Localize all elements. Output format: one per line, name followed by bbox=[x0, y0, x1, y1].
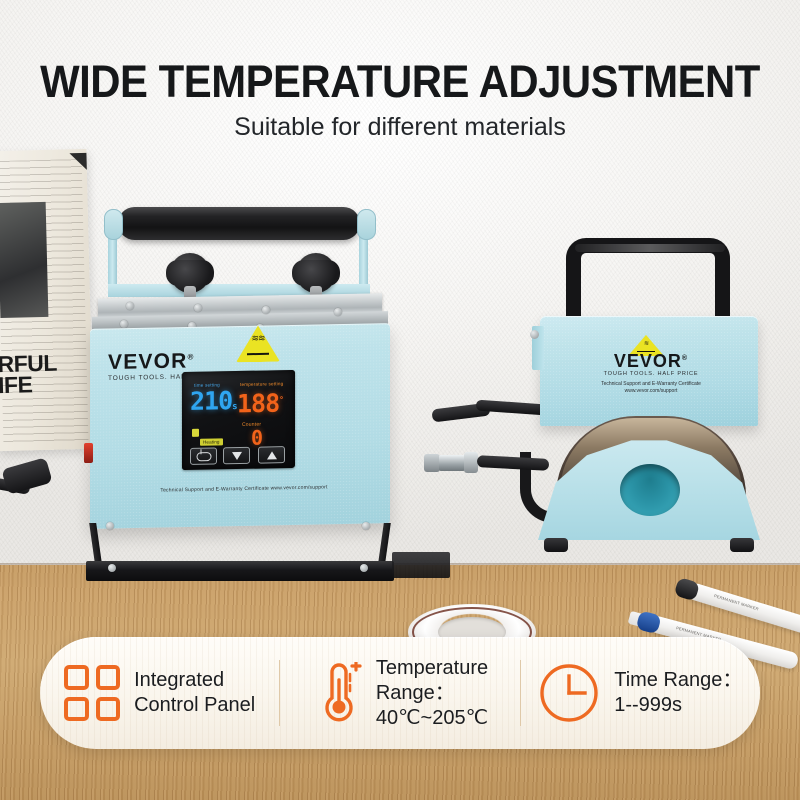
power-cord-left bbox=[0, 455, 110, 501]
connector-nut bbox=[464, 452, 478, 473]
feature-item-control-panel: Integrated Control Panel bbox=[40, 660, 279, 726]
pressure-knob-left[interactable] bbox=[170, 253, 210, 293]
grid-cell bbox=[96, 697, 121, 722]
feature-text: Time Range： 1--999s bbox=[614, 668, 742, 718]
mug-press-handle[interactable] bbox=[566, 238, 730, 328]
grid-cell bbox=[96, 665, 121, 690]
feature-line-1: Temperature bbox=[376, 656, 488, 681]
bolt bbox=[362, 522, 370, 530]
power-icon bbox=[196, 452, 211, 461]
decrease-button[interactable] bbox=[223, 447, 250, 465]
handle-cap-right bbox=[357, 209, 376, 240]
mug-cavity-hole bbox=[620, 464, 680, 516]
bolt bbox=[120, 320, 128, 328]
warning-underline bbox=[247, 353, 268, 355]
handle-cap-left bbox=[104, 209, 123, 240]
chevron-up-icon bbox=[267, 451, 277, 459]
feature-line-3: 40℃~205℃ bbox=[376, 706, 488, 731]
control-panel-display[interactable]: time setting temperature setting 210s 18… bbox=[182, 370, 295, 470]
feature-line-2: Control Panel bbox=[134, 693, 255, 718]
connector-barrel bbox=[439, 455, 465, 471]
grid-cell bbox=[64, 665, 89, 690]
brand-name: VEVOR® bbox=[576, 350, 726, 370]
temperature-setting-label: temperature setting bbox=[240, 381, 283, 387]
page-subtitle: Suitable for different materials bbox=[0, 113, 800, 142]
book-photo bbox=[0, 202, 48, 318]
product-marketing-image: WIDE TEMPERATURE ADJUSTMENT Suitable for… bbox=[0, 0, 800, 800]
power-button[interactable] bbox=[190, 447, 217, 465]
book-headline-line2: IFE bbox=[0, 373, 90, 396]
plug-indicator-icon bbox=[192, 429, 199, 437]
thermometer-plus-icon bbox=[312, 662, 362, 724]
warning-waves: ≋ bbox=[644, 341, 648, 347]
feature-bar: Integrated Control Panel Temperature bbox=[40, 637, 760, 749]
connector-ring bbox=[424, 454, 440, 472]
feature-text: Temperature Range： 40℃~205℃ bbox=[376, 656, 488, 731]
brand-logo-right: VEVOR® TOUGH TOOLS. HALF PRICE Technical… bbox=[576, 350, 726, 395]
book-corner-mark bbox=[69, 153, 86, 170]
feature-line-1: Integrated bbox=[134, 668, 255, 693]
tumbler-heat-press: VEVOR® TOUGH TOOLS. HALF PRICE ≋≋ time s… bbox=[78, 196, 438, 586]
chevron-down-icon bbox=[232, 451, 242, 459]
increase-button[interactable] bbox=[258, 446, 285, 464]
time-value: 210s bbox=[190, 388, 237, 421]
grid-panel-icon bbox=[64, 665, 120, 721]
feature-item-time: Time Range： 1--999s bbox=[521, 660, 760, 726]
support-url: www.vevor.com/support bbox=[576, 388, 726, 395]
side-knob[interactable] bbox=[530, 330, 539, 339]
brand-tagline: TOUGH TOOLS. HALF PRICE bbox=[576, 371, 726, 377]
feature-line-2: 1--999s bbox=[614, 693, 742, 718]
feature-line-1: Time Range： bbox=[614, 668, 742, 693]
support-line: Technical Support and E-Warranty Certifi… bbox=[576, 381, 726, 388]
feature-text: Integrated Control Panel bbox=[134, 668, 255, 718]
feature-item-temperature: Temperature Range： 40℃~205℃ bbox=[280, 660, 519, 726]
cord-plug bbox=[1, 457, 52, 495]
counter-value: 0 bbox=[251, 428, 263, 448]
base-foot-left bbox=[544, 538, 568, 552]
press-handle-bar[interactable] bbox=[118, 207, 360, 240]
base-foot-right bbox=[730, 538, 754, 552]
heating-indicator: Heating bbox=[200, 438, 223, 445]
bolt bbox=[106, 522, 114, 530]
clock-icon bbox=[538, 662, 600, 724]
bolt bbox=[108, 564, 116, 572]
bolt bbox=[262, 306, 270, 314]
stand-leg-right bbox=[378, 523, 391, 563]
small-black-prop bbox=[392, 552, 450, 578]
pressure-knob-right[interactable] bbox=[296, 253, 336, 293]
bolt bbox=[334, 308, 342, 316]
stand-base-plate bbox=[86, 561, 394, 581]
stand-leg-left bbox=[89, 523, 102, 563]
support-text-right: Technical Support and E-Warranty Certifi… bbox=[576, 381, 726, 395]
warning-waves: ≋≋ bbox=[251, 335, 264, 341]
grid-cell bbox=[64, 697, 89, 722]
bolt bbox=[360, 564, 368, 572]
brand-name: VEVOR® bbox=[108, 347, 218, 373]
feature-line-2: Range： bbox=[376, 681, 488, 706]
mug-heat-press: ≋ VEVOR® TOUGH TOOLS. HALF PRICE Technic… bbox=[510, 238, 795, 588]
bolt bbox=[194, 304, 202, 312]
book-headline: RFUL IFE bbox=[0, 352, 90, 396]
mug-press-base bbox=[538, 434, 760, 544]
bolt bbox=[126, 302, 134, 310]
page-title: WIDE TEMPERATURE ADJUSTMENT bbox=[28, 56, 772, 108]
press-stand bbox=[86, 521, 394, 581]
temperature-value: 188° bbox=[237, 387, 283, 416]
